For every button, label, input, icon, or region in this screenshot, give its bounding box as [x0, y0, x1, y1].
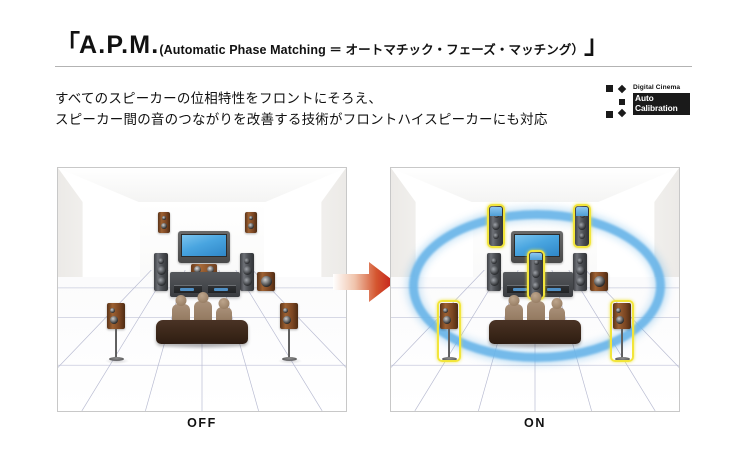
- title-main-text: A.P.M.: [79, 33, 159, 58]
- subwoofer: [590, 272, 608, 291]
- title-divider: [55, 66, 692, 67]
- lead-line-1: すべてのスピーカーの位相特性をフロントにそろえ、: [55, 88, 615, 109]
- speaker-stand-base: [615, 357, 630, 361]
- speaker-stand-base: [442, 357, 457, 361]
- television: [178, 231, 230, 263]
- badge-auto-calibration-box: Auto Calibration: [633, 93, 690, 115]
- room-diagram-off: [57, 167, 347, 412]
- surround-speaker-right: [613, 303, 631, 329]
- center-speaker-indicator: [530, 253, 542, 260]
- speaker-shadow: [105, 358, 129, 364]
- tv-screen: [181, 234, 227, 257]
- badge-text-block: Digital Cinema Auto Calibration: [633, 84, 690, 115]
- badge-square-icon: [619, 99, 625, 105]
- bracket-close-glyph: 」: [584, 33, 608, 58]
- sofa: [156, 320, 248, 344]
- speaker-stand-pole: [448, 329, 450, 358]
- badge-diamond-icon: [618, 109, 626, 117]
- room-scene-off: [58, 168, 346, 411]
- front-high-speaker-left: [158, 212, 170, 233]
- caption-on: ON: [390, 416, 680, 430]
- lead-line-2: スピーカー間の音のつながりを改善する技術がフロントハイスピーカーにも対応: [55, 109, 615, 130]
- speaker-stand-pole: [288, 329, 290, 358]
- front-tower-speaker-left: [154, 253, 168, 291]
- front-tower-speaker-right: [240, 253, 254, 291]
- room-scene-on: [391, 168, 679, 411]
- speaker-shadow: [278, 358, 302, 364]
- caption-off: OFF: [57, 416, 347, 430]
- av-component-left: [174, 285, 202, 293]
- front-high-speaker-right: [245, 212, 257, 233]
- seating-group: [489, 298, 581, 346]
- av-component-right: [208, 285, 236, 293]
- title-sub-text: (Automatic Phase Matching ＝ オートマチック・フェーズ…: [159, 44, 584, 59]
- front-high-speaker-right-indicator: [576, 207, 588, 216]
- speaker-stand-pole: [621, 329, 623, 358]
- bracket-open-glyph: 「: [55, 33, 79, 58]
- digital-cinema-auto-calibration-badge: Digital Cinema Auto Calibration: [606, 84, 690, 124]
- sofa-shadow: [160, 342, 244, 350]
- badge-square-icon: [606, 85, 613, 92]
- badge-decoration-marks: [606, 84, 632, 124]
- subwoofer: [257, 272, 275, 291]
- sofa-shadow: [493, 342, 577, 350]
- ceiling: [58, 168, 346, 202]
- front-high-speaker-left-indicator: [490, 207, 502, 216]
- lead-paragraph: すべてのスピーカーの位相特性をフロントにそろえ、 スピーカー間の音のつながりを改…: [55, 88, 615, 130]
- badge-calibration-label: Calibration: [635, 104, 688, 114]
- badge-diamond-icon: [618, 85, 626, 93]
- front-tower-speaker-left: [487, 253, 501, 291]
- ceiling: [391, 168, 679, 202]
- room-diagram-on: [390, 167, 680, 412]
- av-component-right: [541, 285, 569, 293]
- speaker-stand-pole: [115, 329, 117, 358]
- surround-speaker-left: [107, 303, 125, 329]
- seating-group: [156, 298, 248, 346]
- surround-speaker-right: [280, 303, 298, 329]
- badge-square-icon: [606, 111, 613, 118]
- page-title: 「 A.P.M. (Automatic Phase Matching ＝ オート…: [55, 28, 695, 58]
- sofa: [489, 320, 581, 344]
- badge-digital-cinema-label: Digital Cinema: [633, 84, 690, 92]
- front-tower-speaker-right: [573, 253, 587, 291]
- surround-speaker-left: [440, 303, 458, 329]
- transition-arrow-icon: [333, 262, 395, 302]
